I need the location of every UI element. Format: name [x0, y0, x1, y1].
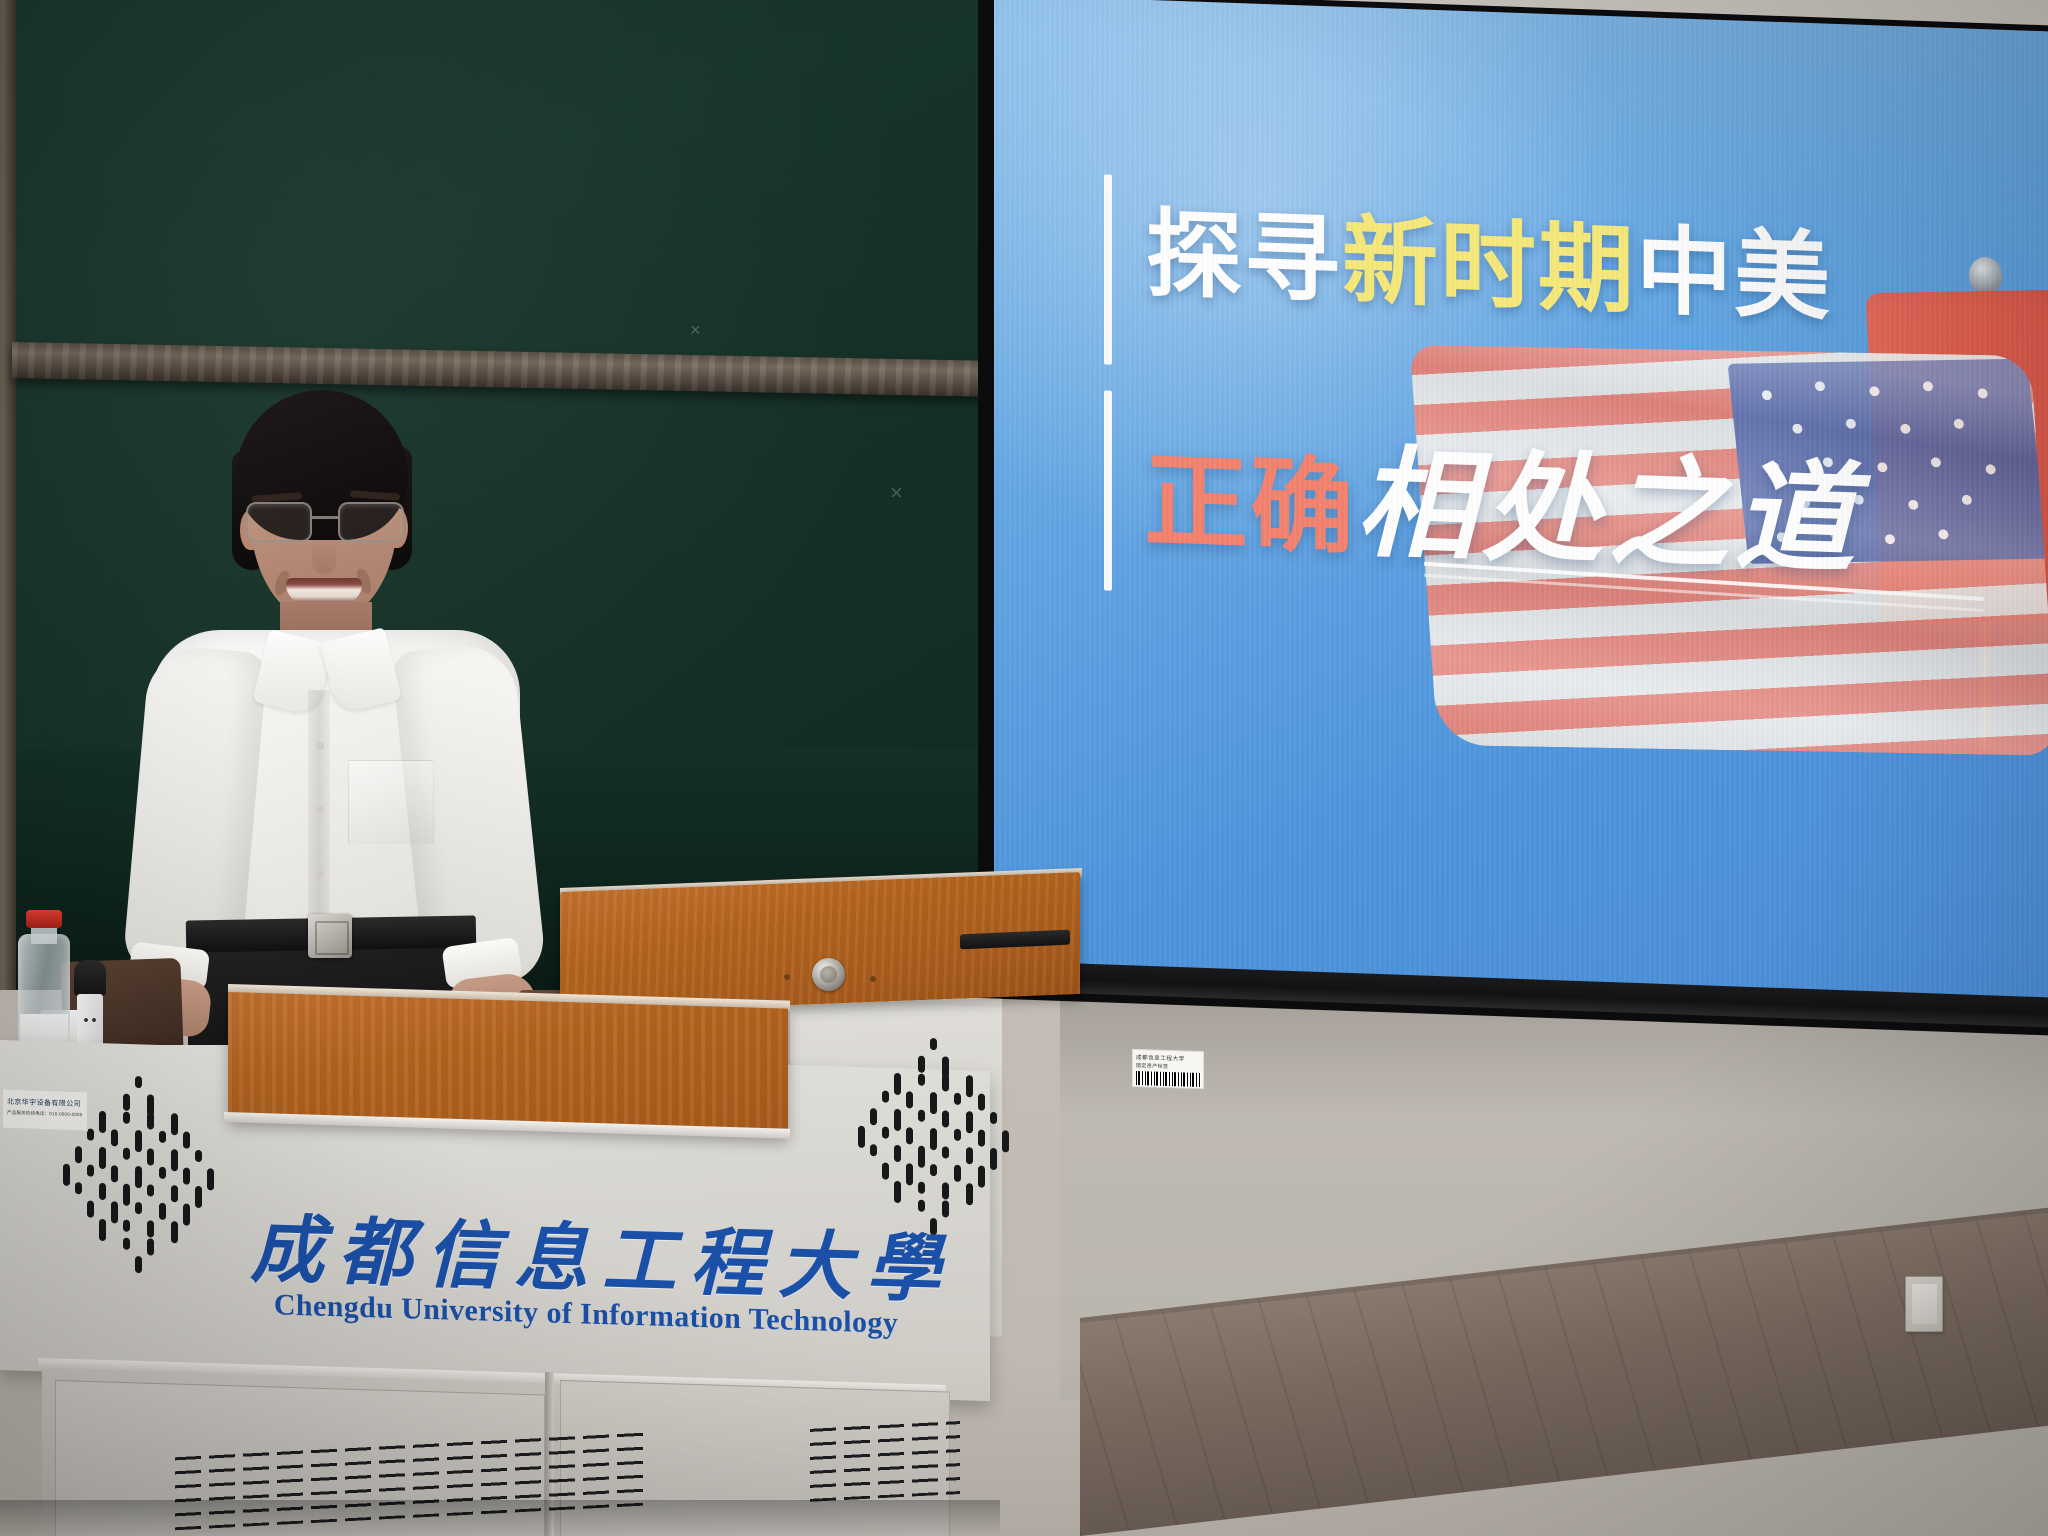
shirt-button: [316, 870, 324, 878]
lid-hole: [870, 976, 876, 982]
screen-scanlines: [994, 0, 2048, 1004]
glasses-lens-right: [338, 502, 404, 542]
manufacturer-label: 北京华宇设备有限公司 产品服务热线电话：010-0000-0000: [2, 1089, 88, 1132]
glasses-lens-left: [246, 502, 312, 542]
slide-surface: 探寻新时期中美 正确相处之道: [994, 0, 2048, 1004]
nose: [312, 540, 336, 574]
university-logo-plate: 成都信息工程大學 Chengdu University of Informati…: [230, 1185, 930, 1386]
chalk-mark-icon: ×: [890, 480, 904, 494]
shirt-button: [316, 742, 324, 750]
manufacturer-company: 北京华宇设备有限公司: [7, 1097, 84, 1109]
podium-floor-shadow: [0, 1500, 1000, 1536]
shirt-pocket: [348, 760, 434, 844]
shirt-button: [316, 806, 324, 814]
asset-tag-title: 固定资产标签: [1136, 1062, 1201, 1071]
chalk-mark-icon: ×: [690, 320, 704, 334]
chalkboard-left-post: [0, 0, 16, 990]
mouth-smiling: [286, 578, 362, 604]
glasses-icon: [242, 502, 410, 544]
manufacturer-detail: 产品服务热线电话：010-0000-0000: [7, 1110, 84, 1118]
lecture-hall-photo: × × 探寻新时期中美 正确相处之道: [0, 0, 2048, 1536]
light-switch-icon[interactable]: [1905, 1276, 1943, 1332]
asset-tag-label: 成都信息工程大学 固定资产标签 0000-00: [1132, 1049, 1204, 1089]
lock-icon[interactable]: [812, 958, 845, 991]
glasses-bridge: [312, 516, 338, 519]
cabinet-vent-right: [810, 1416, 960, 1502]
lid-hole: [784, 974, 790, 980]
